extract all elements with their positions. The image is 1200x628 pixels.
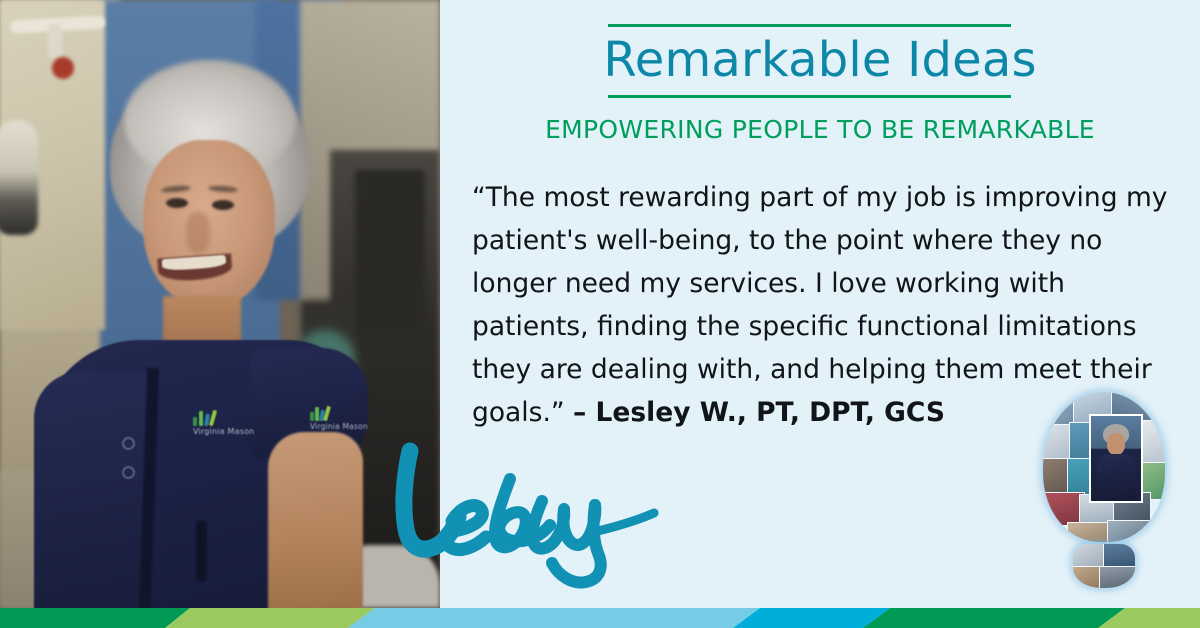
footer-segment-cyan xyxy=(733,608,890,628)
virginia-mason-chest-logo: Virginia Mason xyxy=(193,410,254,436)
footer-segment-dark-green-2 xyxy=(863,608,1125,628)
virginia-mason-sleeve-wordmark: Virginia Mason xyxy=(310,422,368,431)
title-rule-top xyxy=(608,24,1011,27)
collage-portrait-face xyxy=(1107,433,1125,455)
lightbulb-collage xyxy=(1035,392,1175,592)
lesley-signature xyxy=(392,443,682,588)
virginia-mason-mark-icon xyxy=(193,410,254,426)
photo-bg-red-valve xyxy=(52,57,74,79)
photo-person-vest-left-panel xyxy=(34,372,154,608)
remarkable-ideas-graphic: Virginia Mason Virginia Mason Remarkable… xyxy=(0,0,1200,628)
page-title: Remarkable Ideas xyxy=(440,31,1200,89)
lightbulb-base xyxy=(1073,544,1135,588)
photo-person-vest-button-2 xyxy=(122,466,135,479)
photo-bg-pipe-joint xyxy=(48,24,62,58)
collage-tile xyxy=(1099,566,1135,588)
photo-bg-hose xyxy=(0,120,38,235)
photo-person-eye-right xyxy=(212,200,234,210)
photo-person-eye-left xyxy=(166,198,188,208)
collage-center-portrait xyxy=(1089,414,1143,503)
collage-tile xyxy=(1107,520,1153,542)
photo-bg-equipment-a xyxy=(355,170,425,330)
photo-person-arm xyxy=(268,432,363,608)
footer-segment-light-green xyxy=(165,608,375,628)
collage-portrait-body xyxy=(1097,454,1135,501)
photo-person-vest-zipper xyxy=(196,520,207,582)
page-subtitle: EMPOWERING PEOPLE TO BE REMARKABLE xyxy=(440,115,1200,144)
footer-color-bar xyxy=(0,608,1200,628)
photo-person-nose xyxy=(186,212,210,254)
footer-segment-dark-green xyxy=(0,608,190,628)
quote-attribution: – Lesley W., PT, DPT, GCS xyxy=(573,397,945,428)
virginia-mason-sleeve-logo: Virginia Mason xyxy=(310,405,368,431)
title-rule-bottom xyxy=(608,95,1011,98)
virginia-mason-sleeve-mark-icon xyxy=(310,405,368,421)
virginia-mason-wordmark: Virginia Mason xyxy=(193,427,254,436)
photo-person-vest-button-1 xyxy=(122,437,135,450)
footer-segment-sky-blue xyxy=(348,608,760,628)
employee-photo: Virginia Mason Virginia Mason xyxy=(0,0,440,608)
lightbulb-glass xyxy=(1043,392,1165,542)
